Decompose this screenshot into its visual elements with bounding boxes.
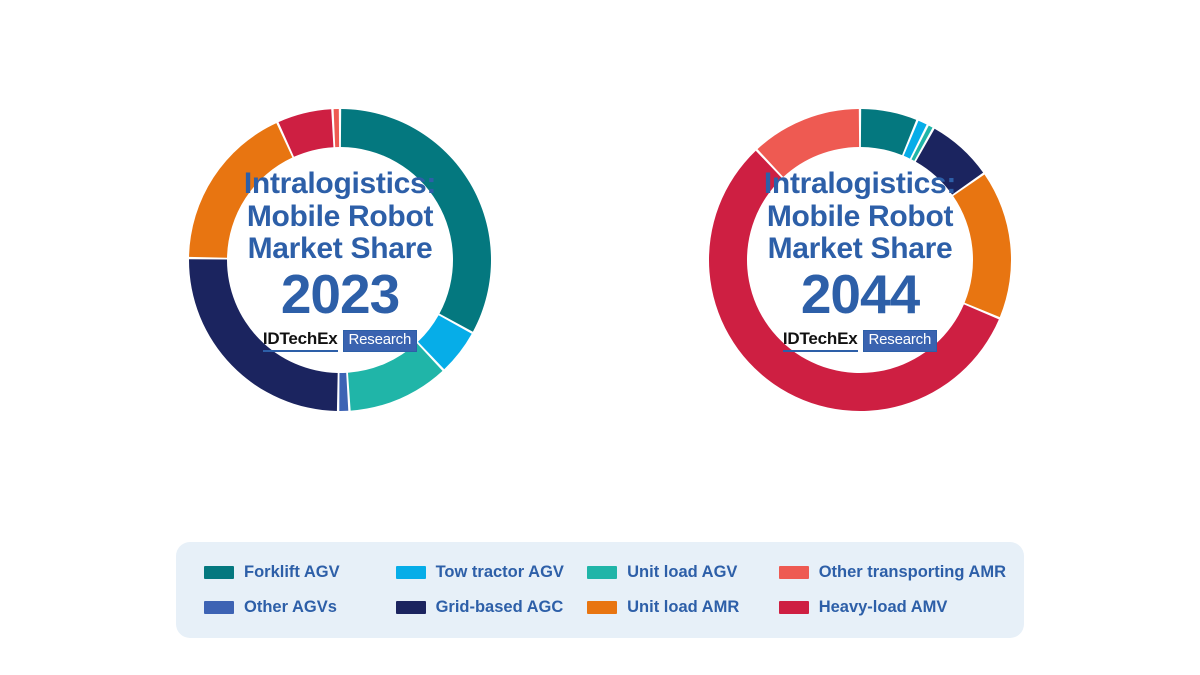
pie-slice[interactable] bbox=[341, 109, 491, 332]
legend-item[interactable]: Tow tractor AGV bbox=[386, 563, 578, 582]
legend-item[interactable]: Other transporting AMR bbox=[769, 563, 1006, 582]
chart-legend: Forklift AGVTow tractor AGVUnit load AGV… bbox=[176, 542, 1024, 638]
legend-label: Heavy-load AMV bbox=[819, 598, 948, 617]
legend-label: Unit load AMR bbox=[627, 598, 739, 617]
legend-swatch bbox=[587, 601, 617, 614]
legend-label: Other transporting AMR bbox=[819, 563, 1006, 582]
donut-svg-2044 bbox=[695, 95, 1025, 425]
legend-swatch bbox=[587, 566, 617, 579]
pie-slice[interactable] bbox=[189, 259, 338, 411]
legend-item[interactable]: Unit load AGV bbox=[577, 563, 769, 582]
legend-swatch bbox=[779, 601, 809, 614]
pie-slice[interactable] bbox=[189, 123, 292, 258]
donut-chart-2044: Intralogistics: Mobile Robot Market Shar… bbox=[600, 0, 1120, 520]
charts-row: Intralogistics: Mobile Robot Market Shar… bbox=[0, 0, 1200, 530]
pie-slice[interactable] bbox=[334, 109, 340, 147]
pie-slice[interactable] bbox=[953, 175, 1011, 318]
legend-swatch bbox=[396, 566, 426, 579]
legend-label: Grid-based AGC bbox=[436, 598, 564, 617]
legend-grid: Forklift AGVTow tractor AGVUnit load AGV… bbox=[194, 555, 1006, 625]
legend-item[interactable]: Heavy-load AMV bbox=[769, 598, 1006, 617]
legend-label: Tow tractor AGV bbox=[436, 563, 564, 582]
legend-label: Other AGVs bbox=[244, 598, 337, 617]
legend-item[interactable]: Unit load AMR bbox=[577, 598, 769, 617]
legend-label: Forklift AGV bbox=[244, 563, 340, 582]
pie-slice[interactable] bbox=[758, 109, 860, 177]
legend-item[interactable]: Other AGVs bbox=[194, 598, 386, 617]
donut-chart-2023: Intralogistics: Mobile Robot Market Shar… bbox=[80, 0, 600, 520]
legend-swatch bbox=[396, 601, 426, 614]
legend-swatch bbox=[204, 601, 234, 614]
legend-item[interactable]: Forklift AGV bbox=[194, 563, 386, 582]
legend-swatch bbox=[204, 566, 234, 579]
pie-slice[interactable] bbox=[348, 343, 443, 411]
legend-item[interactable]: Grid-based AGC bbox=[386, 598, 578, 617]
legend-label: Unit load AGV bbox=[627, 563, 737, 582]
pie-slice[interactable] bbox=[339, 373, 348, 411]
donut-svg-2023 bbox=[175, 95, 505, 425]
legend-swatch bbox=[779, 566, 809, 579]
